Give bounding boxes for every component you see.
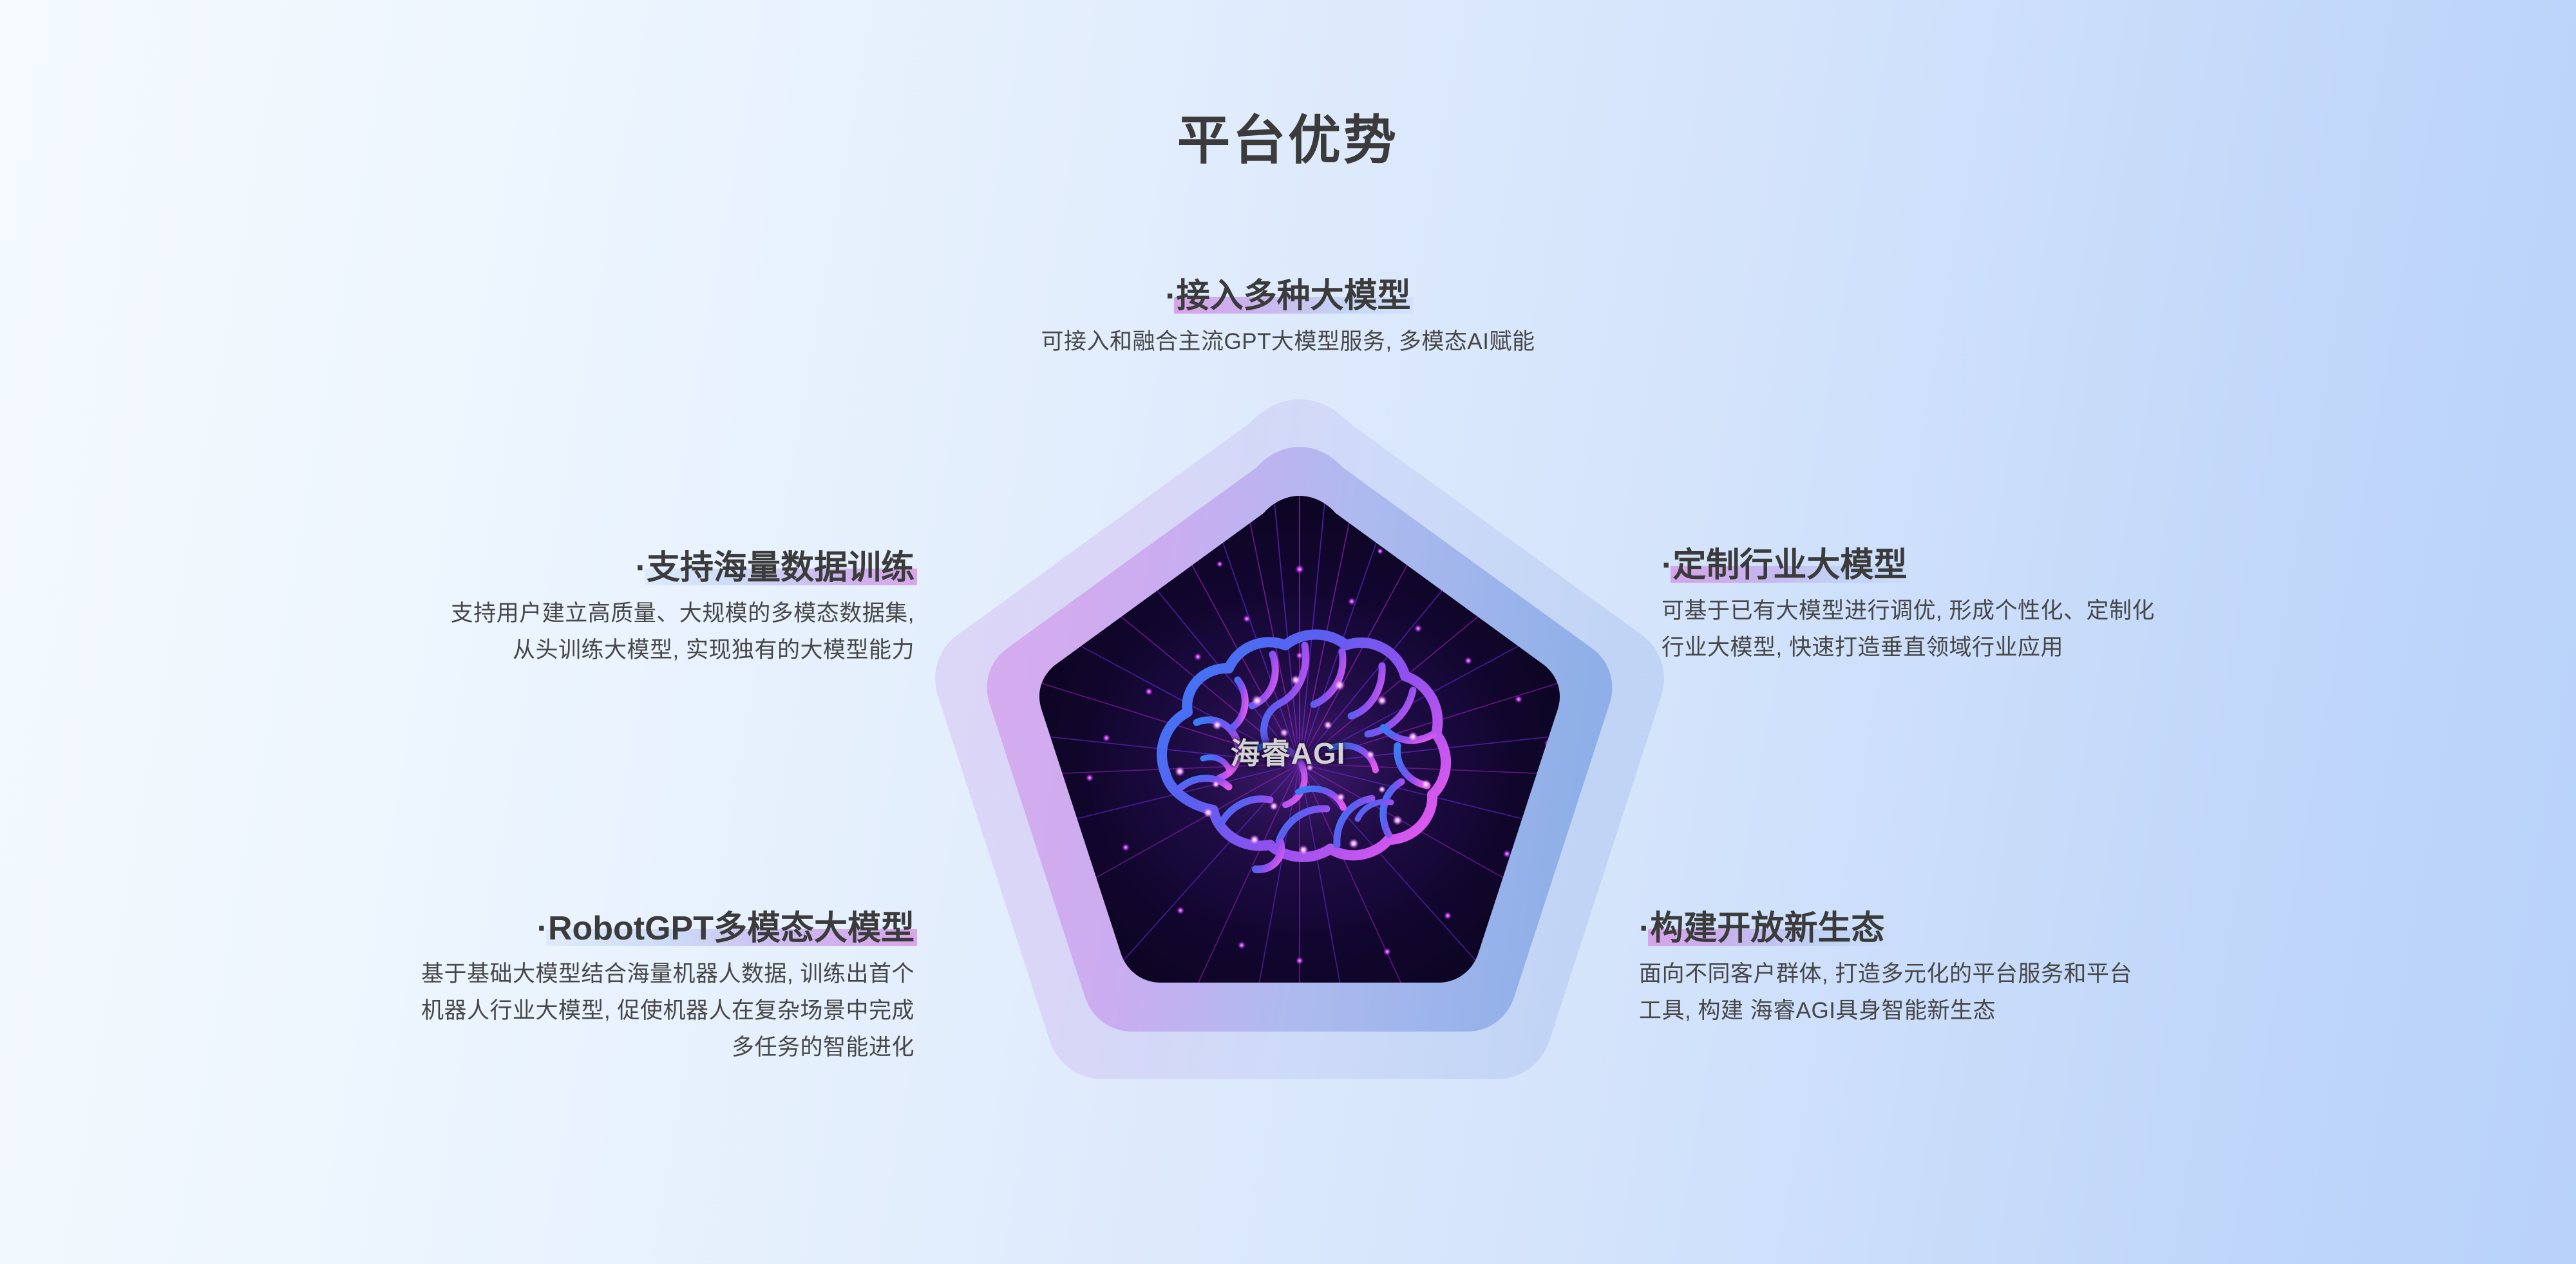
feature-title-text: 定制行业大模型: [1672, 547, 1907, 584]
page-title: 平台优势: [0, 115, 2576, 167]
center-pentagon-graphic: [920, 385, 1680, 1106]
feature-desc-right-lower: 面向不同客户群体, 打造多元化的平台服务和平台 工具, 构建 海睿AGI具身智能…: [1639, 956, 2476, 1029]
feature-title-text: 构建开放新生态: [1650, 910, 1884, 947]
bullet-dot: ·: [537, 910, 548, 947]
pentagon-core: [1029, 487, 1570, 1000]
desc-line: 可接入和融合主流GPT大模型服务, 多模态AI赋能: [708, 324, 1868, 361]
feature-desc-left-lower: 基于基础大模型结合海量机器人数据, 训练出首个 机器人行业大模型, 促使机器人在…: [109, 956, 914, 1066]
bullet-dot: ·: [1639, 910, 1650, 947]
feature-block-left-upper: ·支持海量数据训练 支持用户建立高质量、大规模的多模态数据集, 从头训练大模型,…: [116, 549, 914, 669]
feature-block-right-upper: ·定制行业大模型 可基于已有大模型进行调优, 形成个性化、定制化 行业大模型, …: [1662, 546, 2499, 666]
feature-desc-right-upper: 可基于已有大模型进行调优, 形成个性化、定制化 行业大模型, 快速打造垂直领域行…: [1662, 593, 2499, 666]
feature-block-top: ·接入多种大模型 可接入和融合主流GPT大模型服务, 多模态AI赋能: [708, 277, 1868, 361]
feature-block-left-lower: ·RobotGPT多模态大模型 基于基础大模型结合海量机器人数据, 训练出首个 …: [109, 909, 914, 1066]
desc-line: 多任务的智能进化: [109, 1030, 914, 1066]
desc-line: 工具, 构建 海睿AGI具身智能新生态: [1639, 993, 2476, 1030]
feature-title-right-lower: ·构建开放新生态: [1639, 909, 1884, 948]
feature-desc-left-upper: 支持用户建立高质量、大规模的多模态数据集, 从头训练大模型, 实现独有的大模型能…: [116, 596, 914, 668]
desc-line: 可基于已有大模型进行调优, 形成个性化、定制化: [1662, 593, 2499, 630]
desc-line: 基于基础大模型结合海量机器人数据, 训练出首个: [109, 956, 914, 993]
bullet-dot: ·: [636, 549, 647, 587]
desc-line: 面向不同客户群体, 打造多元化的平台服务和平台: [1639, 956, 2476, 993]
feature-title-text: RobotGPT多模态大模型: [548, 910, 914, 947]
infographic-root: 平台优势: [0, 0, 2576, 1264]
desc-line: 机器人行业大模型, 促使机器人在复杂场景中完成: [109, 993, 914, 1030]
bullet-dot: ·: [1165, 278, 1176, 315]
feature-title-top: ·接入多种大模型: [1165, 277, 1410, 316]
bullet-dot: ·: [1662, 547, 1672, 584]
feature-desc-top: 可接入和融合主流GPT大模型服务, 多模态AI赋能: [708, 324, 1868, 361]
feature-title-left-upper: ·支持海量数据训练: [636, 549, 914, 588]
feature-title-text: 支持海量数据训练: [647, 549, 914, 587]
desc-line: 支持用户建立高质量、大规模的多模态数据集,: [116, 596, 914, 632]
feature-title-left-lower: ·RobotGPT多模态大模型: [537, 909, 914, 948]
feature-title-right-upper: ·定制行业大模型: [1662, 546, 1907, 585]
desc-line: 从头训练大模型, 实现独有的大模型能力: [116, 632, 914, 669]
feature-title-text: 接入多种大模型: [1177, 278, 1411, 315]
desc-line: 行业大模型, 快速打造垂直领域行业应用: [1662, 630, 2499, 666]
feature-block-right-lower: ·构建开放新生态 面向不同客户群体, 打造多元化的平台服务和平台 工具, 构建 …: [1639, 909, 2476, 1030]
